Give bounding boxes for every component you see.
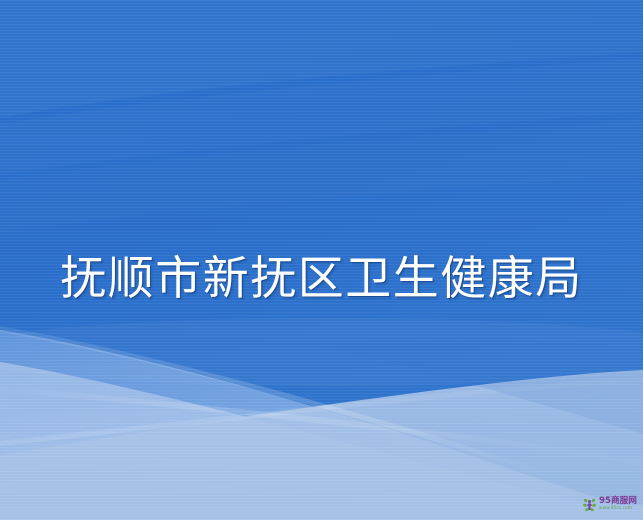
banner-background-waves [0,0,643,520]
people-leaf-logo-icon [582,497,597,512]
watermark: 95商服网 www.95ss.com [582,497,639,512]
watermark-text-column: 95商服网 www.95ss.com [599,497,639,512]
site-banner: 抚顺市新抚区卫生健康局 95商服网 www.95ss.com [0,0,643,520]
watermark-site-url: www.95ss.com [599,507,632,511]
watermark-site-name: 95商服网 [599,497,637,506]
